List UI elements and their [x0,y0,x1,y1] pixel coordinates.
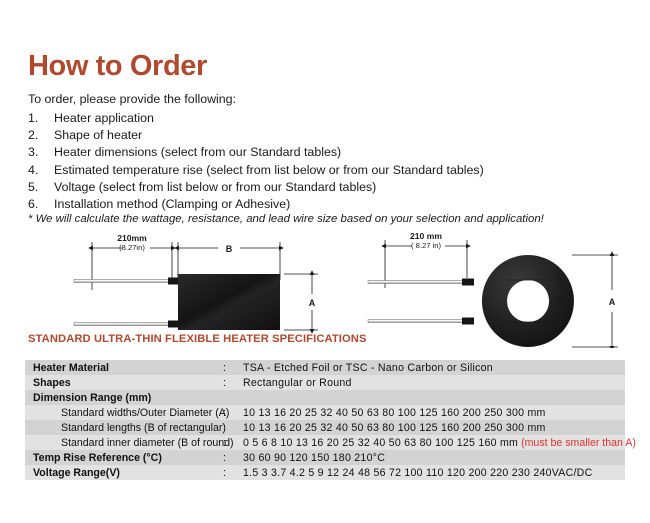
table-row: Dimension Range (mm) [25,390,625,405]
rect-lead-length-inches: (8.27in) [119,243,145,252]
list-item: 1. Heater application [28,110,628,127]
list-item-label: Heater application [54,110,628,127]
row-value: 10 13 16 20 25 32 40 50 63 80 100 125 16… [239,405,625,420]
row-label: Standard lengths (B of rectangular) [25,420,223,435]
row-value: 0 5 6 8 10 13 16 20 25 32 40 50 63 80 10… [243,437,518,449]
round-outer-diameter-label: A [609,297,616,307]
rect-lead-length-label: 210mm [117,233,147,243]
table-row: Temp Rise Reference (°C) : 30 60 90 120 … [25,450,625,465]
intro-text: To order, please provide the following: [28,92,236,106]
list-item-label: Shape of heater [54,127,628,144]
row-label: Standard widths/Outer Diameter (A) [25,405,223,420]
list-item-label: Estimated temperature rise (select from … [54,162,628,179]
specifications-table: Heater Material : TSA - Etched Foil or T… [25,360,625,480]
table-row: Heater Material : TSA - Etched Foil or T… [25,360,625,375]
order-steps-list: 1. Heater application 2. Shape of heater… [28,110,628,213]
row-value: 10 13 16 20 25 32 40 50 63 80 100 125 16… [239,420,625,435]
round-lead-length-label: 210 mm [410,231,442,241]
round-lead-length-inches: ( 8.27 in) [411,241,441,250]
round-inner-diameter-label: B [557,296,564,306]
row-value: Rectangular or Round [239,375,625,390]
list-item: 3. Heater dimensions (select from our St… [28,144,628,161]
row-value: 30 60 90 120 150 180 210°C [239,450,625,465]
list-item-label: Installation method (Clamping or Adhesiv… [54,196,628,213]
table-row: Standard widths/Outer Diameter (A) : 10 … [25,405,625,420]
row-colon: : [223,465,239,480]
list-item-number: 2. [28,127,54,144]
row-value-wrap: 0 5 6 8 10 13 16 20 25 32 40 50 63 80 10… [239,435,625,450]
spec-section-heading: STANDARD ULTRA-THIN FLEXIBLE HEATER SPEC… [28,333,367,345]
list-item: 6. Installation method (Clamping or Adhe… [28,196,628,213]
list-item: 2. Shape of heater [28,127,628,144]
list-item-number: 3. [28,144,54,161]
row-value [239,390,625,405]
table-row: Shapes : Rectangular or Round [25,375,625,390]
row-label: Temp Rise Reference (°C) [25,450,223,465]
round-heater-diagram: 210 mm ( 8.27 in) B A [368,231,618,347]
row-label: Voltage Range(V) [25,465,223,480]
row-value: 1.5 3 3.7 4.2 5 9 12 24 48 56 72 100 110… [239,465,625,480]
list-item-number: 5. [28,179,54,196]
list-item-number: 4. [28,162,54,179]
list-item: 5. Voltage (select from list below or fr… [28,179,628,196]
row-colon: : [223,405,239,420]
row-label: Standard inner diameter (B of round) [25,435,223,450]
page-title: How to Order [28,52,207,81]
list-item: 4. Estimated temperature rise (select fr… [28,162,628,179]
calculation-note: * We will calculate the wattage, resista… [28,213,544,225]
row-colon: : [223,450,239,465]
table-row: Voltage Range(V) : 1.5 3 3.7 4.2 5 9 12 … [25,465,625,480]
row-label: Dimension Range (mm) [25,390,223,405]
rect-width-label: B [226,244,233,254]
heater-diagrams: 210mm (8.27in) B A [0,228,650,348]
rectangular-heater-diagram: 210mm (8.27in) B A [74,233,318,330]
diagram-svg: 210mm (8.27in) B A [0,228,650,348]
row-colon: : [223,375,239,390]
row-colon [223,390,239,405]
rect-height-label: A [309,298,316,308]
row-label: Heater Material [25,360,223,375]
list-item-number: 1. [28,110,54,127]
table-row: Standard inner diameter (B of round) : 0… [25,435,625,450]
row-colon: : [223,420,239,435]
list-item-label: Heater dimensions (select from our Stand… [54,144,628,161]
row-value: TSA - Etched Foil or TSC - Nano Carbon o… [239,360,625,375]
list-item-label: Voltage (select from list below or from … [54,179,628,196]
table-row: Standard lengths (B of rectangular) : 10… [25,420,625,435]
row-label: Shapes [25,375,223,390]
list-item-number: 6. [28,196,54,213]
row-value-warning: (must be smaller than A) [518,437,636,449]
row-colon: : [223,360,239,375]
